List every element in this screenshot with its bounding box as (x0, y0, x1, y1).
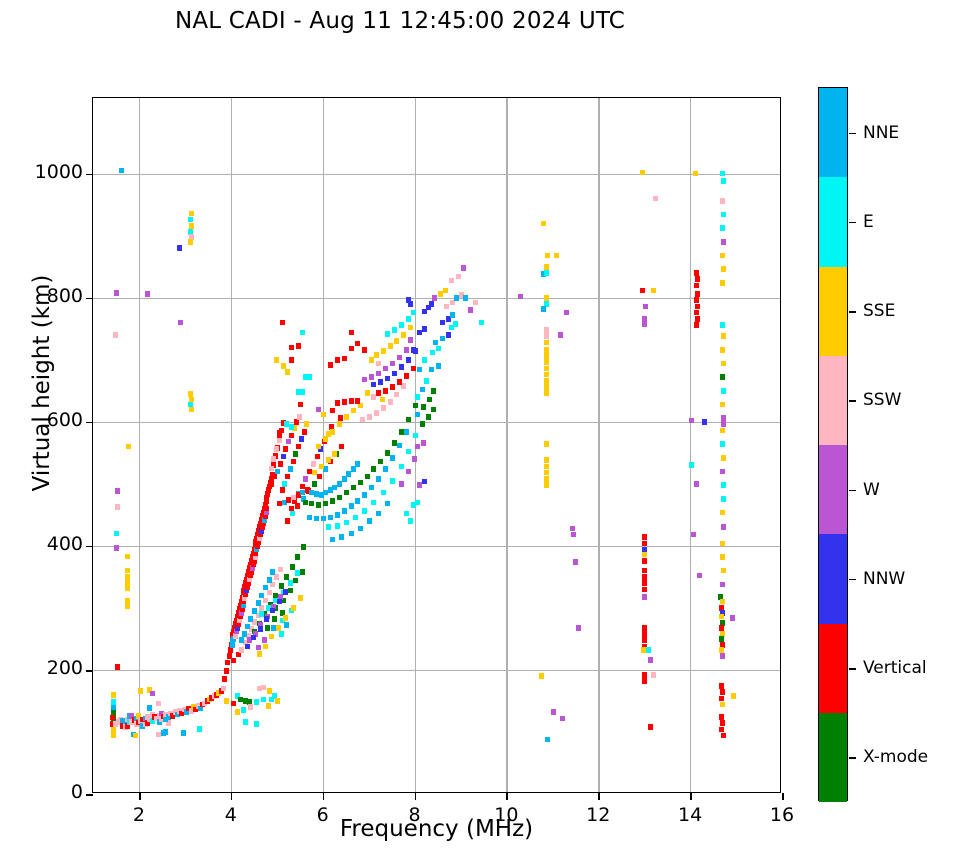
echo-point (125, 554, 130, 560)
gridline-y (93, 422, 780, 423)
echo-point (267, 590, 272, 596)
echo-point (720, 374, 725, 380)
echo-point (317, 474, 322, 480)
echo-point (412, 456, 417, 462)
echo-point (385, 501, 390, 507)
echo-point (449, 278, 454, 284)
echo-point (415, 394, 420, 400)
echo-point (362, 377, 367, 383)
echo-point (256, 645, 261, 651)
gridline-x (598, 98, 599, 792)
gridline-y (93, 670, 780, 671)
echo-point (371, 500, 376, 506)
x-tick (690, 793, 692, 800)
echo-point (303, 476, 308, 482)
echo-point (720, 280, 725, 286)
x-tick (323, 793, 325, 800)
echo-point (291, 605, 296, 611)
echo-point (295, 570, 300, 576)
colorbar-segment-ssw (819, 356, 847, 445)
echo-point (440, 336, 445, 342)
echo-point (349, 503, 354, 509)
echo-point (719, 714, 724, 720)
echo-point (228, 647, 233, 653)
echo-point (643, 304, 648, 310)
echo-point (230, 642, 235, 648)
echo-point (381, 405, 386, 411)
echo-point (339, 444, 344, 450)
echo-point (346, 471, 351, 477)
echo-point (337, 495, 342, 501)
echo-point (721, 415, 726, 421)
echo-point (551, 709, 556, 715)
echo-point (277, 438, 282, 444)
echo-point (231, 701, 236, 707)
colorbar-segment-vertical (819, 624, 847, 713)
echo-point (383, 366, 388, 372)
echo-point (225, 660, 230, 666)
echo-point (270, 569, 275, 575)
gridline-x (506, 98, 507, 792)
echo-point (388, 399, 393, 405)
echo-point (267, 688, 272, 694)
echo-point (290, 564, 295, 570)
echo-point (413, 433, 418, 439)
echo-point (376, 371, 381, 377)
echo-point (429, 301, 434, 307)
x-tick (506, 793, 508, 800)
echo-point (256, 600, 261, 606)
colorbar-tick (849, 311, 856, 313)
colorbar-segment-w (819, 445, 847, 534)
echo-point (248, 616, 253, 622)
echo-point (392, 371, 397, 377)
echo-point (404, 511, 409, 517)
x-tick (231, 793, 233, 800)
echo-point (307, 374, 312, 380)
echo-point (342, 356, 347, 362)
echo-point (115, 504, 120, 510)
echo-point (288, 588, 293, 594)
echo-point (720, 347, 725, 353)
echo-point (397, 379, 402, 385)
echo-point (369, 357, 374, 363)
echo-point (430, 350, 435, 356)
echo-point (284, 574, 289, 580)
echo-point (642, 568, 647, 574)
echo-point (289, 424, 294, 430)
echo-point (694, 270, 699, 276)
echo-point (544, 366, 549, 372)
echo-point (342, 399, 347, 405)
echo-point (291, 459, 296, 465)
colorbar-label-nnw: NNW (863, 569, 905, 589)
echo-point (720, 322, 725, 328)
echo-point (126, 444, 131, 450)
echo-point (399, 322, 404, 328)
echo-point (541, 306, 546, 312)
echo-point (114, 531, 119, 537)
echo-point (358, 403, 363, 409)
echo-point (371, 382, 376, 388)
colorbar-tick (849, 222, 856, 224)
echo-point (188, 217, 193, 223)
echo-point (721, 524, 726, 530)
echo-point (694, 310, 699, 316)
echo-point (544, 270, 549, 276)
echo-point (125, 574, 130, 580)
echo-point (156, 701, 161, 707)
echo-point (378, 379, 383, 385)
echo-point (461, 265, 466, 271)
echo-point (381, 490, 386, 496)
y-axis-title: Virtual height (km) (29, 133, 55, 633)
echo-point (269, 481, 274, 487)
echo-point (119, 168, 124, 174)
echo-point (420, 387, 425, 393)
echo-point (392, 327, 397, 333)
echo-point (342, 508, 347, 514)
echo-point (721, 333, 726, 339)
echo-point (720, 469, 725, 475)
echo-point (719, 647, 724, 653)
echo-point (335, 523, 340, 529)
echo-point (406, 316, 411, 322)
echo-point (545, 737, 550, 743)
echo-point (337, 481, 342, 487)
echo-point (394, 392, 399, 398)
echo-point (390, 455, 395, 461)
chart-title: NAL CADI - Aug 11 12:45:00 2024 UTC (0, 8, 800, 34)
echo-point (408, 325, 413, 331)
echo-point (302, 429, 307, 435)
echo-point (262, 637, 267, 643)
echo-point (689, 418, 694, 424)
echo-point (269, 466, 274, 472)
echo-point (720, 198, 725, 204)
echo-point (642, 625, 647, 631)
y-tick (86, 794, 93, 796)
echo-point (721, 388, 726, 394)
echo-point (640, 170, 645, 176)
echo-point (248, 704, 253, 710)
echo-point (281, 363, 286, 369)
echo-point (545, 253, 550, 259)
echo-point (719, 625, 724, 631)
colorbar-segment-e (819, 177, 847, 266)
echo-point (720, 510, 725, 516)
echo-point (695, 276, 700, 282)
echo-point (385, 376, 390, 382)
echo-point (544, 378, 549, 384)
echo-point (353, 515, 358, 521)
echo-point (224, 668, 229, 674)
echo-point (720, 402, 725, 408)
echo-point (261, 685, 266, 691)
echo-point (721, 733, 726, 739)
echo-point (721, 239, 726, 245)
echo-point (241, 707, 246, 713)
echo-point (319, 464, 324, 470)
echo-point (299, 436, 304, 442)
echo-point (295, 503, 300, 509)
echo-point (355, 398, 360, 404)
colorbar-label-w: W (863, 480, 880, 500)
x-tick (598, 793, 600, 800)
echo-point (259, 593, 264, 599)
echo-point (721, 361, 726, 367)
echo-point (642, 580, 647, 586)
echo-point (404, 429, 409, 435)
echo-point (642, 534, 647, 540)
echo-point (266, 703, 271, 709)
echo-point (388, 343, 393, 349)
echo-point (399, 481, 404, 487)
echo-point (401, 383, 406, 389)
echo-point (274, 357, 279, 363)
echo-point (642, 594, 647, 600)
echo-point (408, 518, 413, 524)
echo-point (335, 400, 340, 406)
echo-point (450, 300, 455, 306)
echo-point (719, 696, 724, 702)
echo-point (254, 721, 259, 727)
echo-point (413, 348, 418, 354)
echo-point (197, 726, 202, 732)
colorbar-label-x-mode: X-mode (863, 747, 928, 767)
echo-point (281, 454, 286, 460)
echo-point (265, 625, 270, 631)
echo-point (426, 414, 431, 420)
echo-point (272, 474, 277, 480)
echo-point (642, 574, 647, 580)
echo-point (283, 589, 288, 595)
echo-point (422, 357, 427, 363)
scatter-canvas (93, 98, 780, 792)
echo-point (413, 403, 418, 409)
echo-point (349, 346, 354, 352)
y-tick-label: 200 (13, 657, 83, 679)
echo-point (558, 332, 563, 338)
colorbar-tick (849, 133, 856, 135)
echo-point (296, 444, 301, 450)
echo-point (642, 672, 647, 678)
colorbar-tick (849, 668, 856, 670)
echo-point (316, 444, 321, 450)
echo-point (321, 412, 326, 418)
echo-point (328, 362, 333, 368)
echo-point (642, 637, 647, 643)
echo-point (446, 332, 451, 338)
echo-point (408, 337, 413, 343)
echo-point (362, 347, 367, 353)
echo-point (304, 421, 309, 427)
echo-point (133, 733, 138, 739)
echo-point (374, 352, 379, 358)
echo-point (731, 693, 736, 699)
echo-point (431, 407, 436, 413)
echo-point (351, 408, 356, 414)
echo-point (288, 580, 293, 586)
echo-point (397, 355, 402, 361)
echo-point (330, 408, 335, 414)
echo-point (721, 266, 726, 272)
echo-point (721, 496, 726, 502)
echo-point (263, 585, 268, 591)
echo-point (259, 605, 264, 611)
echo-point (374, 410, 379, 416)
echo-point (242, 631, 247, 637)
echo-point (399, 364, 404, 370)
echo-point (115, 664, 120, 670)
echo-point (431, 388, 436, 394)
x-tick (782, 793, 784, 800)
echo-point (406, 449, 411, 455)
echo-point (440, 320, 445, 326)
echo-point (376, 476, 381, 482)
echo-point (314, 516, 319, 522)
echo-point (245, 624, 250, 630)
echo-point (311, 461, 316, 467)
echo-point (421, 440, 426, 446)
echo-point (544, 441, 549, 447)
echo-point (252, 608, 257, 614)
echo-point (544, 347, 549, 353)
echo-point (554, 253, 559, 259)
echo-point (283, 615, 288, 621)
echo-point (285, 518, 290, 524)
echo-point (473, 300, 478, 306)
echo-point (641, 647, 646, 653)
echo-point (401, 332, 406, 338)
echo-point (648, 724, 653, 730)
echo-point (653, 196, 658, 202)
echo-point (284, 622, 289, 628)
echo-point (463, 295, 468, 301)
colorbar-label-nne: NNE (863, 123, 899, 143)
echo-point (429, 367, 434, 373)
colorbar-segment-x-mode (819, 713, 847, 802)
echo-point (321, 516, 326, 522)
echo-point (544, 482, 549, 488)
echo-point (279, 631, 284, 637)
echo-point (695, 291, 700, 297)
echo-point (468, 307, 473, 313)
echo-point (378, 459, 383, 465)
colorbar-tick (849, 757, 856, 759)
colorbar-segment-nne (819, 88, 847, 177)
echo-point (150, 691, 155, 697)
echo-point (298, 402, 303, 408)
echo-point (544, 464, 549, 470)
colorbar-label-e: E (863, 212, 874, 232)
echo-point (541, 221, 546, 227)
echo-point (694, 481, 699, 487)
echo-point (362, 492, 367, 498)
echo-point (693, 171, 698, 177)
echo-point (719, 683, 724, 689)
echo-point (702, 419, 707, 425)
echo-point (297, 414, 302, 420)
echo-point (691, 532, 696, 538)
echo-point (720, 653, 725, 659)
echo-point (145, 291, 150, 297)
echo-point (125, 568, 130, 574)
echo-point (720, 582, 725, 588)
echo-point (544, 470, 549, 476)
echo-point (432, 295, 437, 301)
echo-point (394, 338, 399, 344)
echo-point (427, 397, 432, 403)
echo-point (285, 369, 290, 375)
echo-point (399, 464, 404, 470)
echo-point (719, 614, 724, 620)
echo-point (406, 469, 411, 475)
echo-point (422, 479, 427, 485)
echo-point (115, 488, 120, 494)
echo-point (289, 433, 294, 439)
echo-point (231, 658, 236, 664)
echo-point (421, 404, 426, 410)
echo-point (444, 304, 449, 310)
echo-point (642, 631, 647, 637)
echo-point (326, 457, 331, 463)
echo-point (720, 720, 725, 726)
echo-point (271, 456, 276, 462)
gridline-x (690, 98, 691, 792)
echo-point (258, 626, 263, 632)
echo-point (323, 501, 328, 507)
echo-point (355, 498, 360, 504)
echo-point (390, 361, 395, 367)
echo-point (721, 482, 726, 488)
echo-point (390, 478, 395, 484)
echo-point (290, 511, 295, 517)
colorbar-tick (849, 490, 856, 492)
echo-point (720, 171, 725, 177)
echo-point (274, 574, 279, 580)
echo-point (293, 578, 298, 584)
echo-point (224, 698, 229, 704)
echo-point (720, 428, 725, 434)
echo-point (335, 512, 340, 518)
echo-point (573, 559, 578, 565)
echo-point (720, 702, 725, 708)
echo-point (694, 283, 699, 289)
echo-point (114, 545, 119, 551)
echo-point (571, 532, 576, 538)
echo-point (294, 419, 299, 425)
ionogram-figure: NAL CADI - Aug 11 12:45:00 2024 UTC 2468… (0, 0, 958, 857)
echo-point (450, 312, 455, 318)
echo-point (417, 367, 422, 373)
echo-point (720, 689, 725, 695)
echo-point (312, 481, 317, 487)
echo-point (720, 225, 725, 231)
echo-point (349, 398, 354, 404)
echo-point (300, 569, 305, 575)
echo-point (339, 534, 344, 540)
echo-point (285, 474, 290, 480)
echo-point (544, 476, 549, 482)
echo-point (720, 441, 725, 447)
echo-point (640, 288, 645, 294)
echo-point (720, 541, 725, 547)
echo-point (544, 384, 549, 390)
echo-point (286, 439, 291, 445)
echo-point (289, 357, 294, 363)
echo-point (719, 636, 724, 642)
